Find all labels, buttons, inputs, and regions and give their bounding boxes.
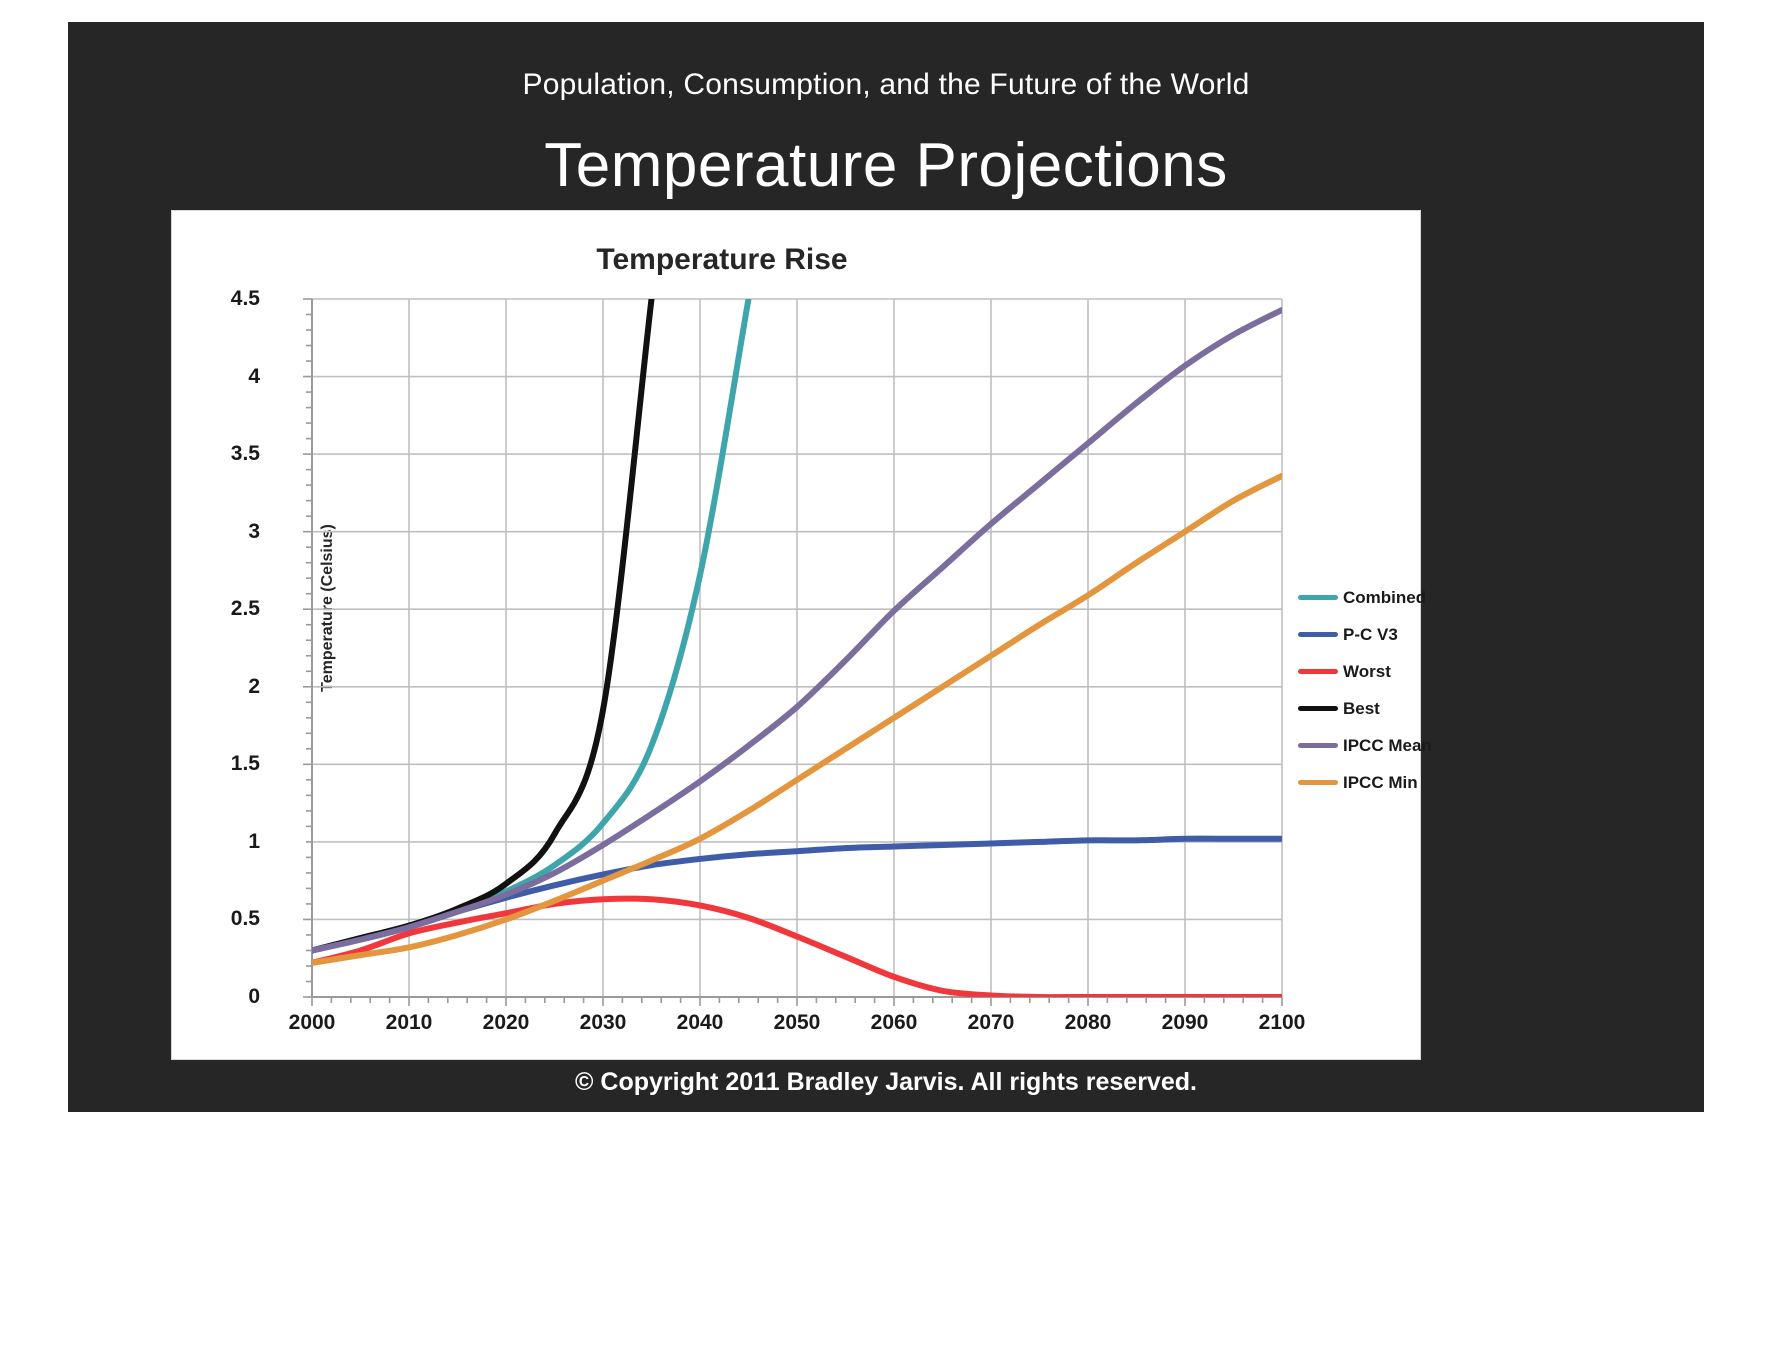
y-tick-label: 4.5 (140, 287, 260, 311)
legend-label: IPCC Min (1343, 773, 1418, 793)
y-tick-label: 1.5 (140, 752, 260, 776)
legend-color-swatch (1298, 632, 1338, 637)
legend-color-swatch (1298, 595, 1338, 600)
y-tick-label: 0 (140, 985, 260, 1009)
chart-panel: Temperature Rise Temperature (Celsius) Y… (171, 210, 1421, 1060)
legend-label: Best (1343, 699, 1380, 719)
legend-color-swatch (1298, 743, 1338, 748)
chart-legend: CombinedP-C V3WorstBestIPCC MeanIPCC Min (1298, 579, 1423, 801)
legend-label: Worst (1343, 662, 1391, 682)
page-title: Temperature Projections (68, 130, 1704, 201)
plot-wrapper: Temperature (Celsius) Year 00.511.522.53… (172, 211, 1420, 1059)
series-line (312, 93, 676, 950)
legend-label: IPCC Mean (1343, 736, 1432, 756)
y-tick-label: 3 (140, 520, 260, 544)
slide-subtitle: Population, Consumption, and the Future … (68, 68, 1704, 102)
y-tick-label: 0.5 (140, 907, 260, 931)
plot-area: Temperature (Celsius) Year 00.511.522.53… (312, 299, 1282, 997)
x-tick-label: 2100 (1222, 1011, 1342, 1035)
x-axis-label: Year (312, 1059, 1282, 1077)
legend-color-swatch (1298, 706, 1338, 711)
y-tick-label: 4 (140, 365, 260, 389)
legend-item-combined[interactable]: Combined (1298, 579, 1423, 616)
legend-label: Combined (1343, 588, 1426, 608)
legend-item-best[interactable]: Best (1298, 690, 1423, 727)
y-tick-label: 2 (140, 675, 260, 699)
y-tick-label: 1 (140, 830, 260, 854)
slide: Population, Consumption, and the Future … (0, 0, 1771, 1369)
y-tick-label: 2.5 (140, 597, 260, 621)
legend-item-ipcc-mean[interactable]: IPCC Mean (1298, 727, 1423, 764)
legend-color-swatch (1298, 780, 1338, 785)
legend-label: P-C V3 (1343, 625, 1398, 645)
chart-svg (312, 299, 1282, 997)
legend-item-p-c-v3[interactable]: P-C V3 (1298, 616, 1423, 653)
legend-color-swatch (1298, 669, 1338, 674)
y-tick-label: 3.5 (140, 442, 260, 466)
legend-item-worst[interactable]: Worst (1298, 653, 1423, 690)
series-line (312, 161, 773, 951)
legend-item-ipcc-min[interactable]: IPCC Min (1298, 764, 1423, 801)
